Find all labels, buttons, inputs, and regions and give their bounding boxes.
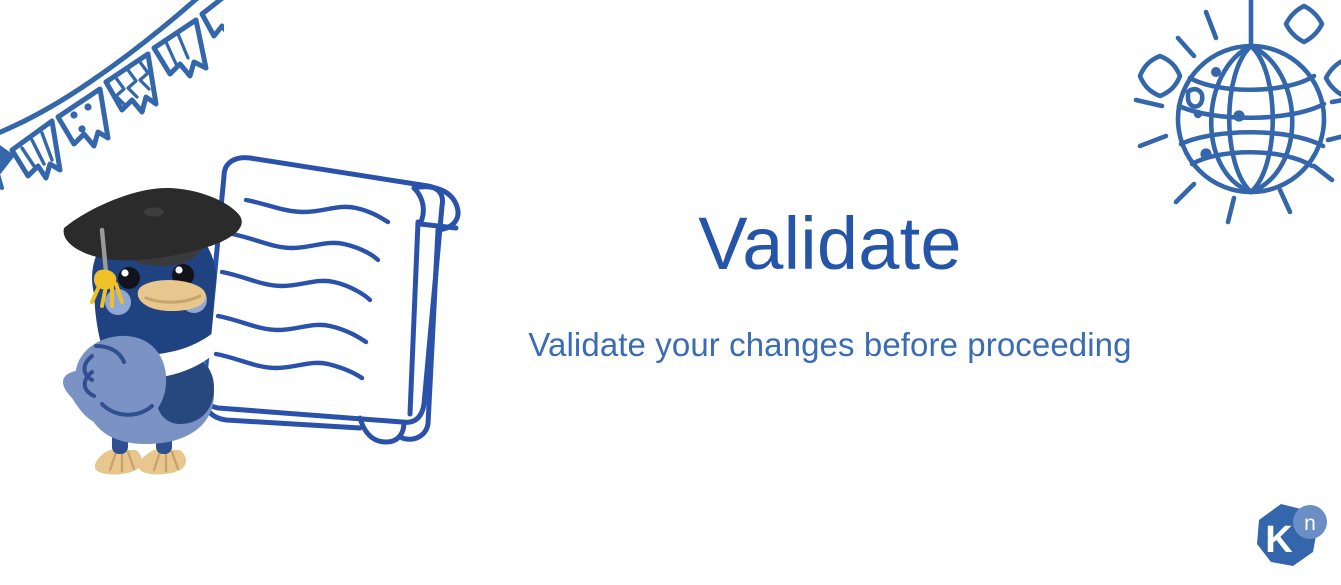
logo-badge-letter: n	[1304, 512, 1316, 535]
logo-primary-letter: K	[1265, 519, 1293, 561]
brand-logo: K n	[1247, 500, 1331, 574]
mortarboard-top	[64, 188, 242, 260]
text-block: Validate Validate your changes before pr…	[470, 205, 1190, 364]
illustration-group	[48, 134, 468, 479]
discoball-decoration	[1118, 0, 1341, 234]
bird-mascot	[58, 186, 248, 476]
page-subtitle: Validate your changes before proceeding	[470, 325, 1190, 365]
page-title: Validate	[470, 205, 1190, 283]
page-canvas: Validate Validate your changes before pr…	[0, 0, 1341, 585]
